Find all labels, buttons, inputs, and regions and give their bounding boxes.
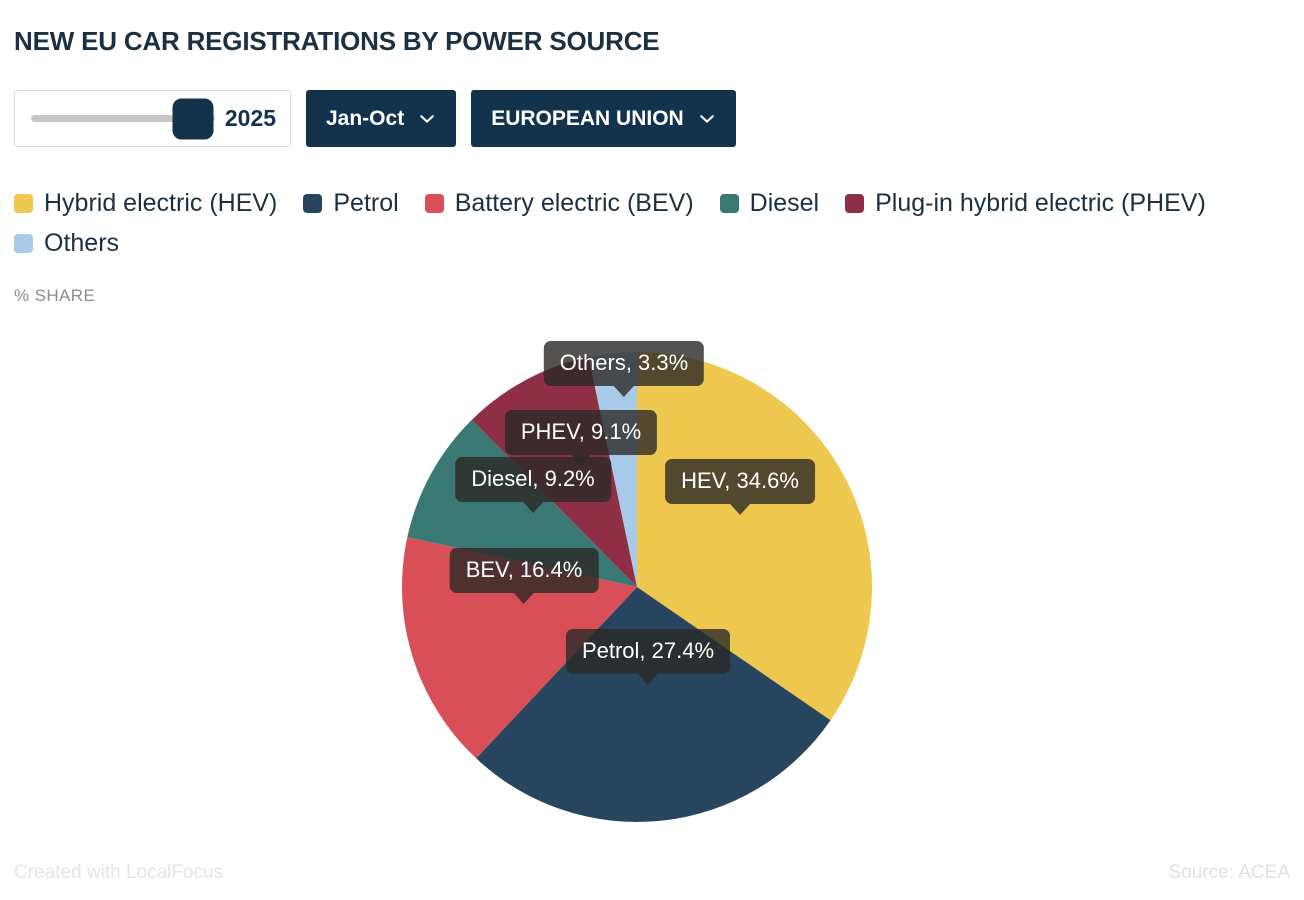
- pie-slice-tooltip: Petrol, 27.4%: [566, 629, 730, 674]
- legend-item-label: Diesel: [750, 186, 819, 220]
- legend-item-label: Hybrid electric (HEV): [44, 186, 277, 220]
- chevron-down-icon: [418, 110, 436, 128]
- legend-item-label: Others: [44, 226, 119, 260]
- axis-caption: % SHARE: [14, 286, 95, 306]
- footer-source: Source: ACEA: [1169, 862, 1290, 884]
- year-slider[interactable]: 2025: [14, 90, 291, 147]
- region-dropdown[interactable]: EUROPEAN UNION: [471, 90, 736, 147]
- legend-item[interactable]: Battery electric (BEV): [425, 186, 694, 220]
- chevron-down-icon: [698, 110, 716, 128]
- chart-legend: Hybrid electric (HEV)PetrolBattery elect…: [14, 186, 1284, 260]
- legend-swatch: [14, 234, 33, 253]
- legend-item-label: Battery electric (BEV): [455, 186, 694, 220]
- legend-swatch: [845, 194, 864, 213]
- chart-page: NEW EU CAR REGISTRATIONS BY POWER SOURCE…: [0, 0, 1304, 900]
- legend-swatch: [14, 194, 33, 213]
- controls-bar: 2025 Jan-Oct EUROPEAN UNION: [14, 90, 736, 147]
- legend-item-label: Plug-in hybrid electric (PHEV): [875, 186, 1206, 220]
- legend-swatch: [303, 194, 322, 213]
- page-title: NEW EU CAR REGISTRATIONS BY POWER SOURCE: [14, 26, 659, 57]
- pie-slice-tooltip: Others, 3.3%: [544, 341, 704, 386]
- legend-item[interactable]: Others: [14, 226, 119, 260]
- pie-chart-area: [0, 318, 1304, 848]
- pie-chart: [0, 318, 1304, 848]
- pie-slice-tooltip: BEV, 16.4%: [450, 548, 599, 593]
- year-slider-rail[interactable]: [31, 91, 215, 146]
- legend-item[interactable]: Hybrid electric (HEV): [14, 186, 277, 220]
- footer-attribution: Created with LocalFocus: [14, 862, 223, 884]
- pie-slice-tooltip: HEV, 34.6%: [665, 459, 815, 504]
- period-dropdown[interactable]: Jan-Oct: [306, 90, 456, 147]
- year-slider-value: 2025: [225, 105, 276, 132]
- legend-item[interactable]: Plug-in hybrid electric (PHEV): [845, 186, 1206, 220]
- legend-item[interactable]: Petrol: [303, 186, 398, 220]
- period-dropdown-label: Jan-Oct: [326, 107, 404, 131]
- pie-slice-tooltip: PHEV, 9.1%: [505, 410, 657, 455]
- legend-item[interactable]: Diesel: [720, 186, 819, 220]
- legend-item-label: Petrol: [333, 186, 398, 220]
- year-slider-thumb[interactable]: [172, 98, 213, 139]
- legend-swatch: [425, 194, 444, 213]
- region-dropdown-label: EUROPEAN UNION: [491, 107, 684, 131]
- legend-swatch: [720, 194, 739, 213]
